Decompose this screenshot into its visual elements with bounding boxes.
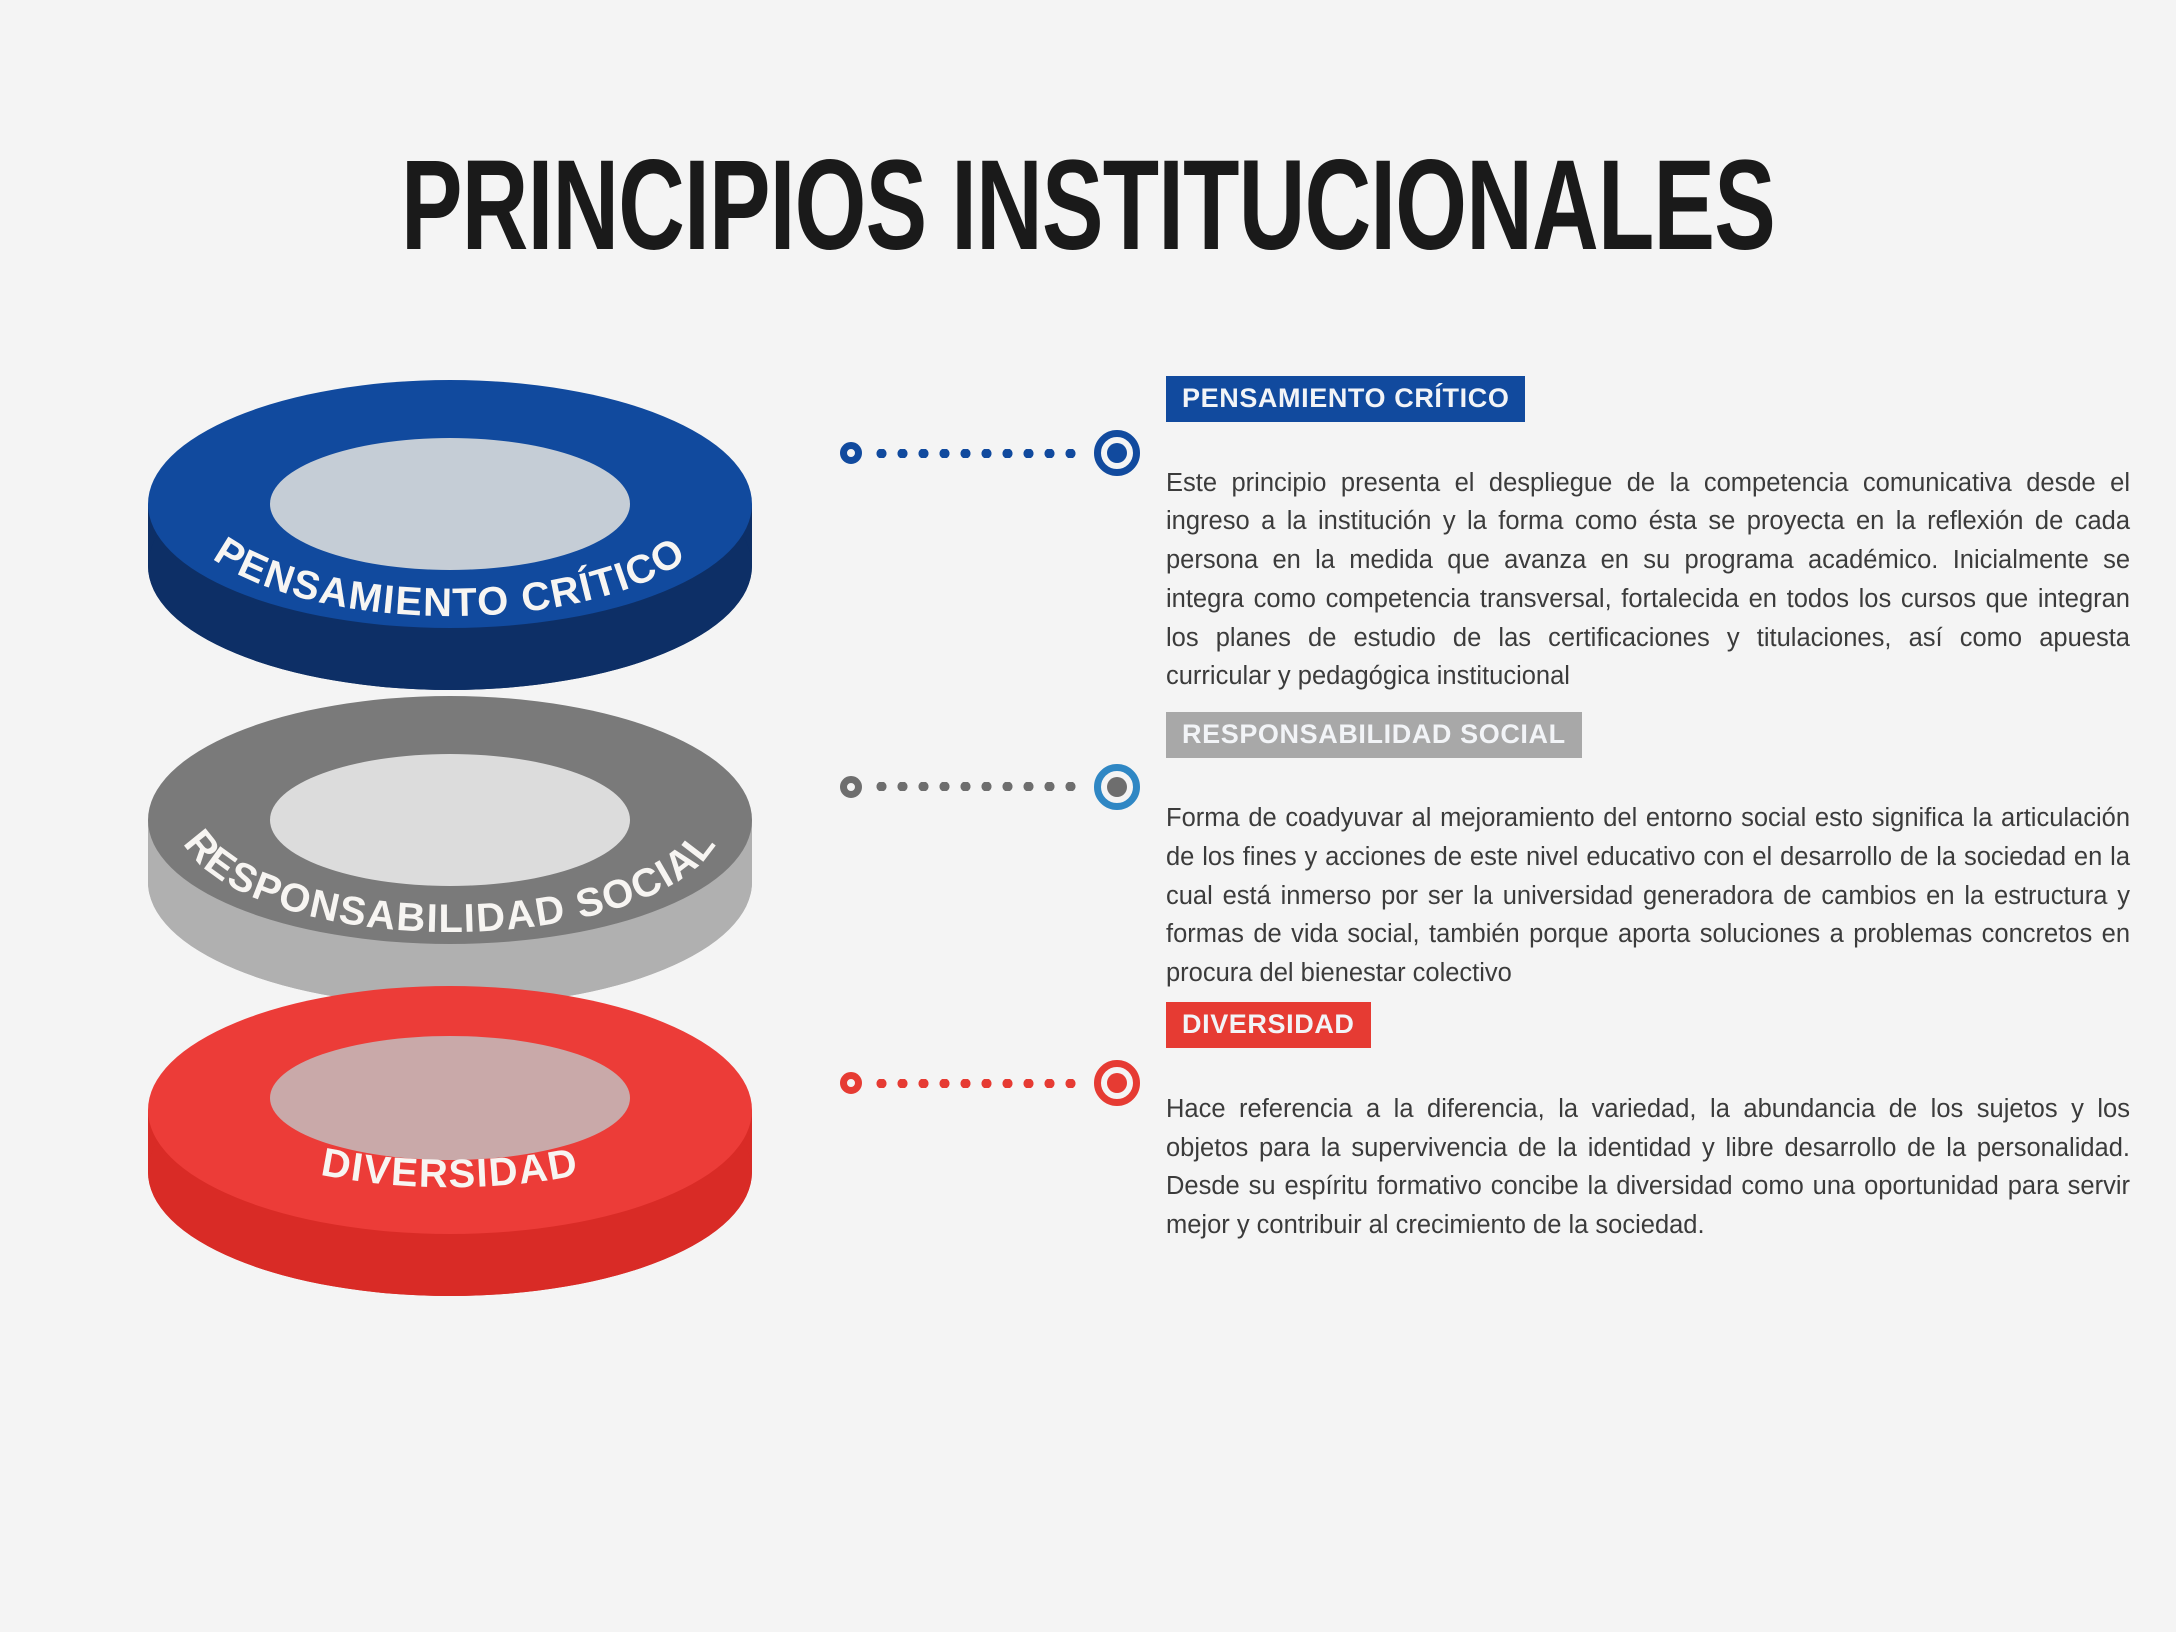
disc-inner-hole — [270, 438, 630, 570]
disc-pensamiento-critico: PENSAMIENTO CRÍTICO — [120, 354, 780, 654]
principle-body-text: Hace referencia a la diferencia, la vari… — [1166, 1090, 2130, 1245]
connector-start-ring-icon — [840, 1072, 862, 1094]
connector-dotted-line — [871, 449, 1085, 458]
principle-text-block: RESPONSABILIDAD SOCIAL Forma de coadyuva… — [1140, 712, 2130, 1019]
disc-responsabilidad-social: RESPONSABILIDAD SOCIAL — [120, 670, 780, 970]
principle-text-block: DIVERSIDAD Hace referencia a la diferenc… — [1140, 1002, 2130, 1270]
connector-start-ring-icon — [840, 776, 862, 798]
disc-stack: PENSAMIENTO CRÍTICO RESPONSABILIDAD SOCI… — [0, 330, 840, 1260]
connector-line-red — [840, 1060, 1140, 1106]
target-icon — [1094, 430, 1140, 476]
disc-diversidad: DIVERSIDAD — [120, 960, 780, 1260]
principle-body-text: Forma de coadyuvar al mejoramiento del e… — [1166, 799, 2130, 993]
principle-item-pensamiento-critico: PENSAMIENTO CRÍTICO Este principio prese… — [840, 430, 2130, 722]
connector-line-blue — [840, 430, 1140, 476]
disc-inner-hole — [270, 1036, 630, 1160]
principle-text-block: PENSAMIENTO CRÍTICO Este principio prese… — [1140, 376, 2130, 722]
connector-dotted-line — [871, 1079, 1085, 1088]
target-icon — [1094, 1060, 1140, 1106]
principle-item-responsabilidad-social: RESPONSABILIDAD SOCIAL Forma de coadyuva… — [840, 764, 2130, 1019]
principles-list: PENSAMIENTO CRÍTICO Este principio prese… — [840, 430, 2130, 1312]
connector-line-gray — [840, 764, 1140, 810]
badge-diversidad: DIVERSIDAD — [1166, 1002, 1371, 1048]
badge-responsabilidad-social: RESPONSABILIDAD SOCIAL — [1166, 712, 1582, 758]
connector-start-ring-icon — [840, 442, 862, 464]
disc-inner-hole — [270, 754, 630, 886]
target-icon — [1094, 764, 1140, 810]
badge-pensamiento-critico: PENSAMIENTO CRÍTICO — [1166, 376, 1525, 422]
principle-item-diversidad: DIVERSIDAD Hace referencia a la diferenc… — [840, 1060, 2130, 1270]
principle-body-text: Este principio presenta el despliegue de… — [1166, 464, 2130, 697]
page-title: PRINCIPIOS INSTITUCIONALES — [305, 142, 1872, 270]
connector-dotted-line — [871, 782, 1085, 791]
